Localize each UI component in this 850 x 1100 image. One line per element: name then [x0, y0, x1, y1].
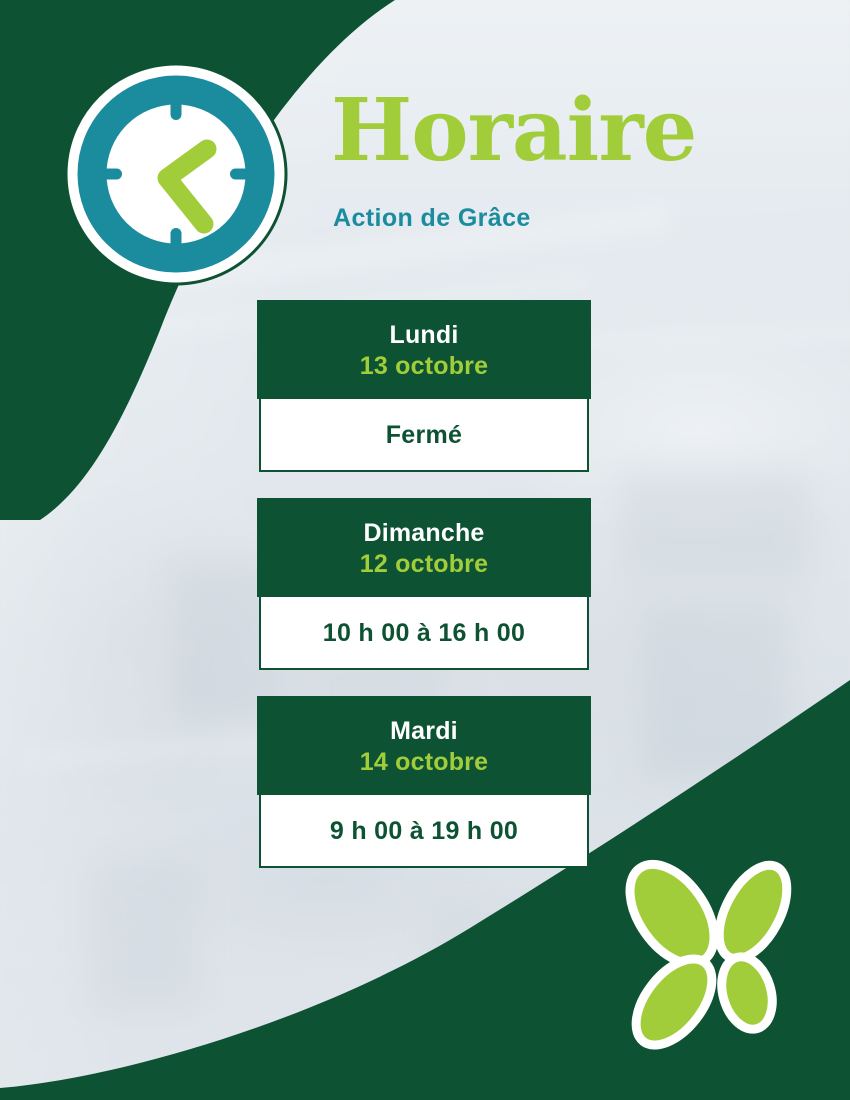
schedule-card-date: 13 octobre	[267, 351, 581, 382]
schedule-card-body: Fermé	[259, 399, 589, 472]
butterfly-logo-icon	[614, 856, 818, 1056]
schedule-card-body: 10 h 00 à 16 h 00	[259, 597, 589, 670]
schedule-card-header: Mardi 14 octobre	[257, 696, 591, 795]
schedule-card-header: Dimanche 12 octobre	[257, 498, 591, 597]
page-title: Horaire	[331, 88, 696, 174]
schedule-card: Mardi 14 octobre 9 h 00 à 19 h 00	[257, 696, 591, 868]
schedule-card-body: 9 h 00 à 19 h 00	[259, 795, 589, 868]
schedule-card-hours: Fermé	[269, 420, 579, 450]
page-subtitle: Action de Grâce	[333, 206, 531, 231]
schedule-card-day: Dimanche	[267, 518, 581, 549]
schedule-card-date: 12 octobre	[267, 549, 581, 580]
schedule-card-header: Lundi 13 octobre	[257, 300, 591, 399]
schedule-card-day: Mardi	[267, 716, 581, 747]
schedule-card-date: 14 octobre	[267, 747, 581, 778]
schedule-card-hours: 9 h 00 à 19 h 00	[269, 816, 579, 846]
schedule-card: Dimanche 12 octobre 10 h 00 à 16 h 00	[257, 498, 591, 670]
schedule-card-list: Lundi 13 octobre Fermé Dimanche 12 octob…	[257, 300, 591, 868]
holiday-hours-poster: Horaire Action de Grâce Lundi 13 octobre…	[0, 0, 850, 1100]
schedule-card-day: Lundi	[267, 320, 581, 351]
schedule-card-hours: 10 h 00 à 16 h 00	[269, 618, 579, 648]
schedule-card: Lundi 13 octobre Fermé	[257, 300, 591, 472]
clock-icon	[64, 62, 288, 286]
